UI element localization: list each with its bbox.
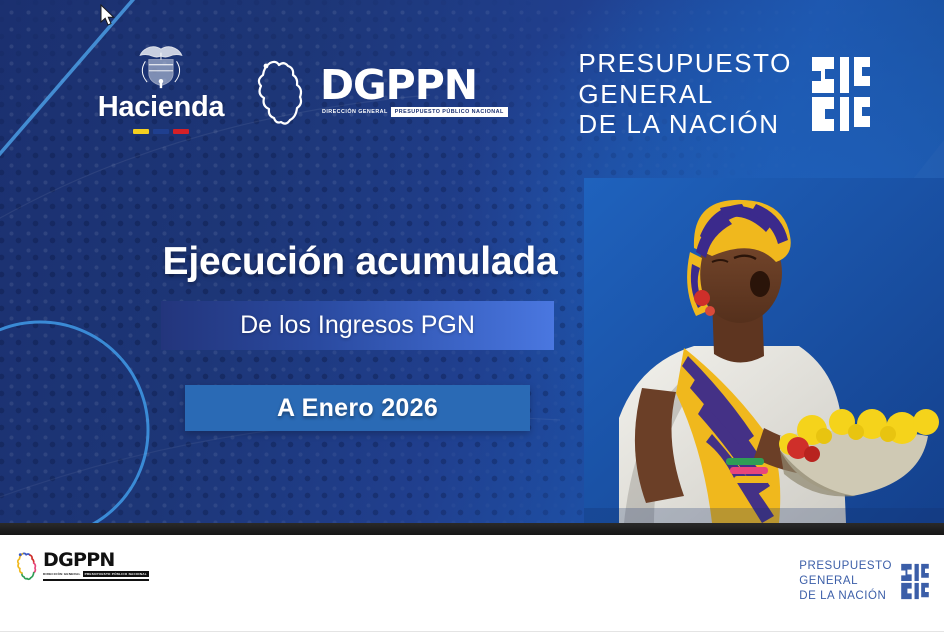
- dgppn-logo-footer: DGPPN DIRECCIÓN GENERAL PRESUPUESTO PÚBL…: [14, 551, 149, 581]
- dgppn-footer-subtitle-right: PRESUPUESTO PÚBLICO NACIONAL: [83, 571, 149, 577]
- hero-banner: Hacienda DGPPN DIRECCIÓN GENERAL PRESUPU…: [0, 0, 944, 523]
- hero-date-band: A Enero 2026: [185, 385, 530, 431]
- dgppn-footer-underline: [43, 579, 149, 581]
- pgn-logo-footer: PRESUPUESTO GENERAL DE LA NACIÓN: [799, 559, 930, 604]
- colombia-map-outline-icon: [14, 551, 40, 581]
- pgn-2026-year-mark-icon: [810, 53, 872, 135]
- slide-root: Hacienda DGPPN DIRECCIÓN GENERAL PRESUPU…: [0, 0, 944, 632]
- dgppn-footer-wordmark: DGPPN: [43, 551, 149, 569]
- hero-photo: [584, 178, 944, 523]
- dgppn-subtitle-left: DIRECCIÓN GENERAL: [322, 110, 388, 115]
- colombia-map-outline-icon: [250, 58, 312, 126]
- dgppn-footer-subtitle: DIRECCIÓN GENERAL PRESUPUESTO PÚBLICO NA…: [43, 571, 149, 577]
- footer-bar: DGPPN DIRECCIÓN GENERAL PRESUPUESTO PÚBL…: [0, 535, 944, 632]
- dgppn-wordmark: DGPPN: [320, 67, 508, 105]
- hero-logo-row: Hacienda DGPPN DIRECCIÓN GENERAL PRESUPU…: [0, 0, 944, 175]
- pgn-footer-text: PRESUPUESTO GENERAL DE LA NACIÓN: [799, 559, 892, 604]
- pgn-line-2: GENERAL: [578, 79, 792, 110]
- pgn-line-3: DE LA NACIÓN: [578, 109, 792, 140]
- mouse-pointer-icon: [100, 4, 116, 28]
- dgppn-logo-top: DGPPN DIRECCIÓN GENERAL PRESUPUESTO PÚBL…: [250, 58, 508, 126]
- hero-headline: Ejecución acumulada: [0, 240, 720, 284]
- pgn-footer-line-1: PRESUPUESTO: [799, 559, 892, 574]
- pgn-2026-year-mark-icon: [900, 562, 930, 601]
- hacienda-logo: Hacienda: [86, 44, 236, 134]
- colombia-coat-of-arms-icon: [135, 44, 187, 89]
- pgn-footer-line-3: DE LA NACIÓN: [799, 589, 892, 604]
- colombia-flag-bars: [86, 129, 236, 134]
- pgn-logo-top-text: PRESUPUESTO GENERAL DE LA NACIÓN: [578, 48, 792, 140]
- dgppn-footer-subtitle-left: DIRECCIÓN GENERAL: [43, 573, 81, 576]
- hero-date-text: A Enero 2026: [277, 394, 438, 423]
- pgn-footer-line-2: GENERAL: [799, 574, 892, 589]
- dgppn-subtitle-right: PRESUPUESTO PÚBLICO NACIONAL: [391, 107, 508, 117]
- hacienda-wordmark: Hacienda: [86, 92, 236, 122]
- dgppn-subtitle: DIRECCIÓN GENERAL PRESUPUESTO PÚBLICO NA…: [322, 107, 508, 117]
- hero-subtitle-band: De los Ingresos PGN: [161, 301, 554, 350]
- pgn-line-1: PRESUPUESTO: [578, 48, 792, 79]
- hero-subtitle-text: De los Ingresos PGN: [240, 311, 475, 340]
- dark-divider-strip: [0, 523, 944, 535]
- pgn-logo-top: PRESUPUESTO GENERAL DE LA NACIÓN: [578, 48, 872, 140]
